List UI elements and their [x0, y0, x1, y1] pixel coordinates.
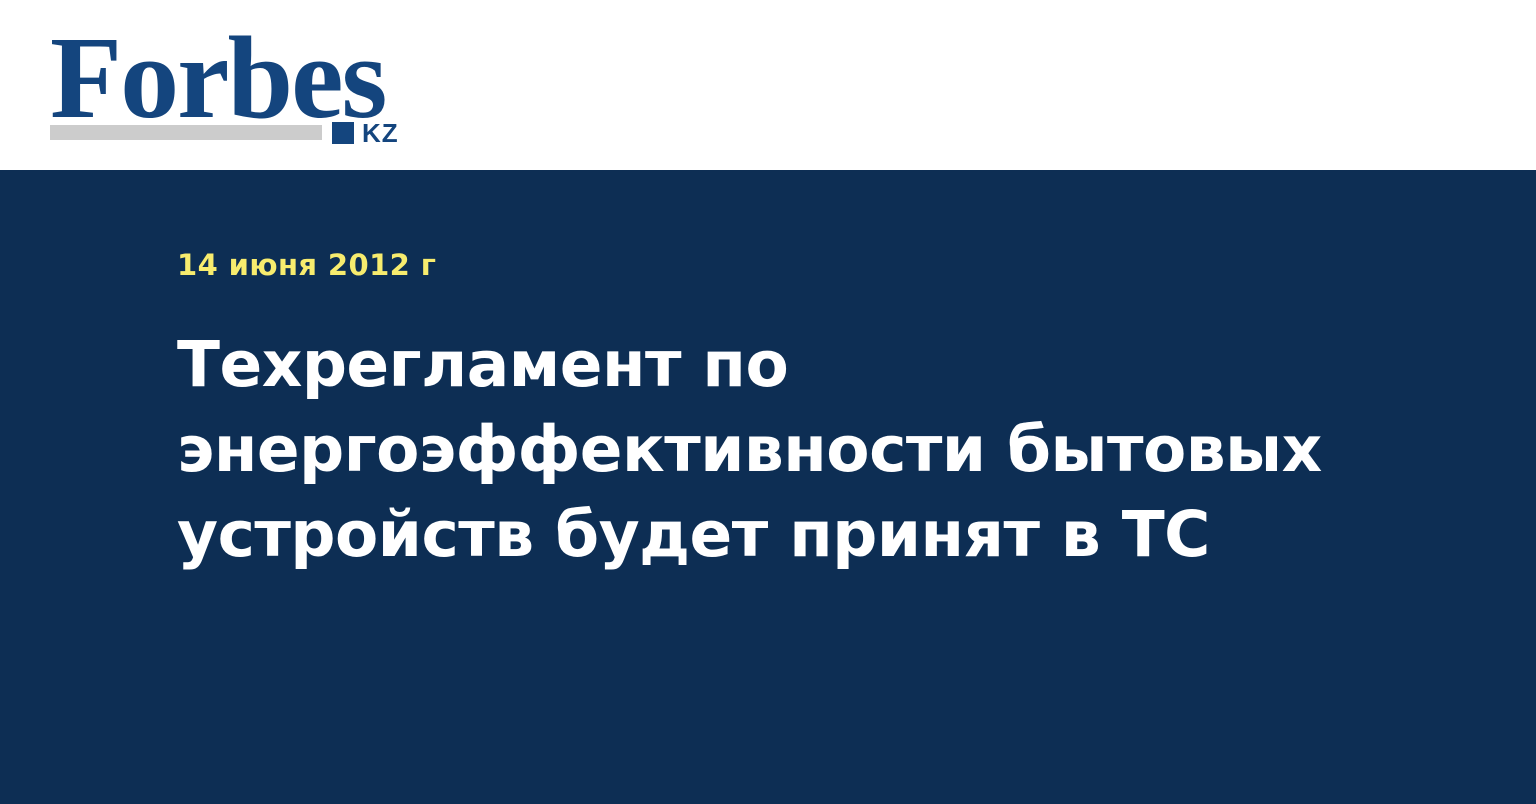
site-header: Forbes KZ — [0, 0, 1536, 170]
logo-kz-suffix: KZ — [362, 120, 399, 146]
forbes-wordmark: Forbes — [50, 28, 410, 128]
article-page: Forbes KZ 14 июня 2012 г Техрегламент по… — [0, 0, 1536, 804]
article-date: 14 июня 2012 г — [177, 248, 1427, 282]
article-hero: 14 июня 2012 г Техрегламент по энергоэфф… — [0, 170, 1536, 804]
article-hero-content: 14 июня 2012 г Техрегламент по энергоэфф… — [177, 248, 1427, 577]
logo-bottom-row: KZ — [50, 120, 410, 146]
logo-gray-bar — [50, 125, 322, 140]
forbes-kz-logo[interactable]: Forbes KZ — [50, 28, 410, 146]
blue-square-icon — [332, 122, 354, 144]
page-title: Техрегламент по энергоэффективности быто… — [177, 322, 1427, 577]
